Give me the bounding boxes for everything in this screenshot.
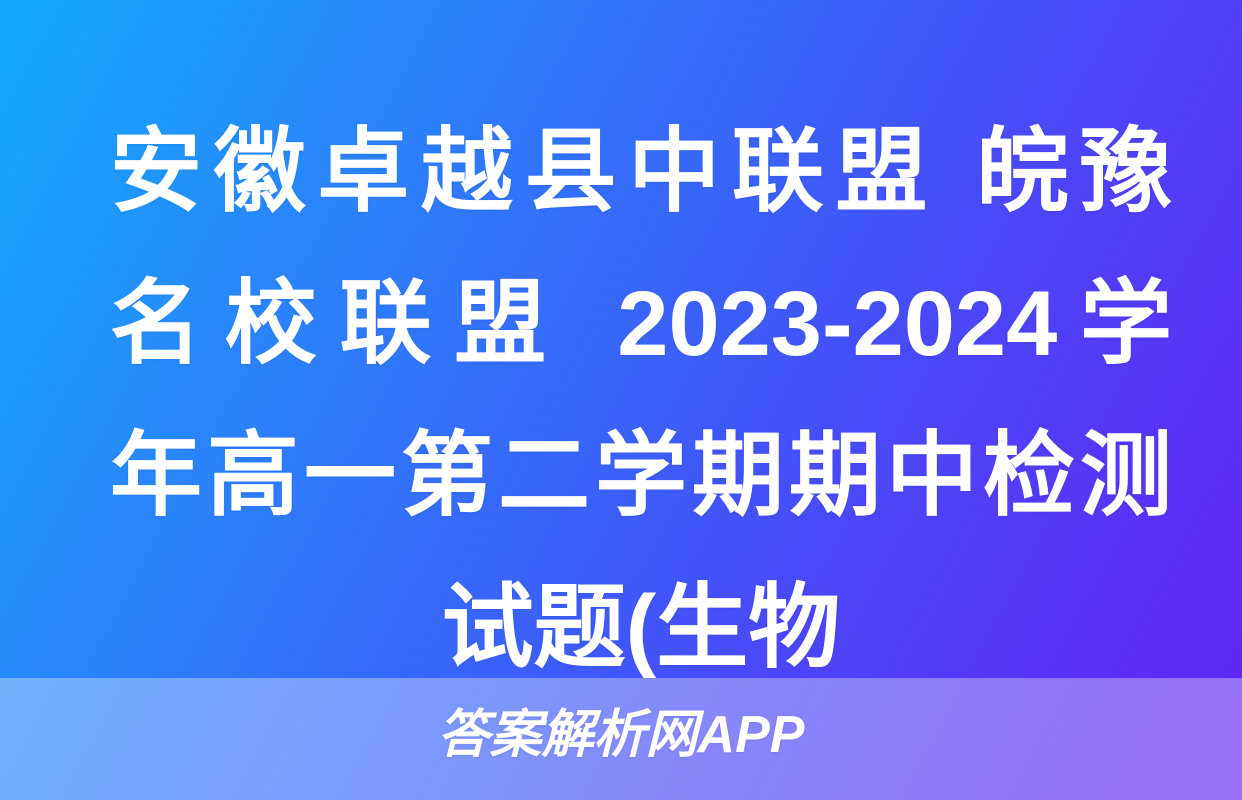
title-line-2: 名校联盟 2023-2024学 <box>110 248 1172 400</box>
title-line-3: 年高一第二学期期中检测 <box>110 400 1172 552</box>
page-title: 安徽卓越县中联盟 皖豫 名校联盟 2023-2024学 年高一第二学期期中检测 … <box>110 96 1172 704</box>
poster-canvas: 安徽卓越县中联盟 皖豫 名校联盟 2023-2024学 年高一第二学期期中检测 … <box>0 0 1242 800</box>
title-line-1: 安徽卓越县中联盟 皖豫 <box>110 96 1172 248</box>
app-watermark: 答案解析网APP <box>0 704 1242 766</box>
